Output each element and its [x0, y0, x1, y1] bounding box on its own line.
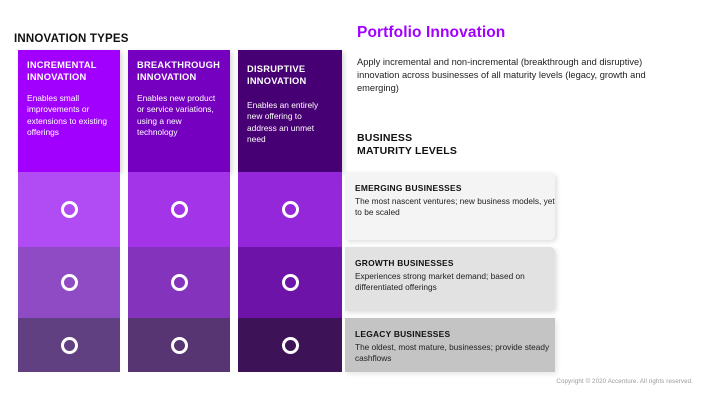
- ring-circle-icon: [61, 337, 78, 354]
- maturity-panel-emerging[interactable]: EMERGING BUSINESSES The most nascent ven…: [345, 172, 555, 240]
- copyright-footer: Copyright © 2020 Accenture. All rights r…: [556, 378, 693, 385]
- business-maturity-levels-label: BUSINESS MATURITY LEVELS: [357, 132, 457, 158]
- maturity-panel-title: LEGACY BUSINESSES: [355, 329, 555, 339]
- matrix-cell-disruptive-legacy[interactable]: [238, 318, 342, 372]
- column-title-incremental: INCREMENTAL INNOVATION: [27, 60, 111, 83]
- matrix-column-disruptive: DISRUPTIVE INNOVATION Enables an entirel…: [238, 50, 342, 372]
- matrix-column-incremental: INCREMENTAL INNOVATION Enables small imp…: [18, 50, 120, 372]
- matrix-cell-breakthrough-legacy[interactable]: [128, 318, 230, 372]
- column-header-incremental: INCREMENTAL INNOVATION Enables small imp…: [18, 50, 120, 172]
- maturity-panel-description: Experiences strong market demand; based …: [355, 271, 555, 293]
- column-desc-disruptive: Enables an entirely new offering to addr…: [247, 100, 333, 145]
- ring-circle-icon: [171, 337, 188, 354]
- ring-circle-icon: [171, 201, 188, 218]
- column-title-line2: INNOVATION: [137, 72, 196, 82]
- matrix-cell-breakthrough-growth[interactable]: [128, 247, 230, 318]
- maturity-panel-title: EMERGING BUSINESSES: [355, 183, 555, 193]
- innovation-types-label: INNOVATION TYPES: [14, 33, 129, 45]
- column-title-line1: BREAKTHROUGH: [137, 60, 220, 70]
- column-desc-breakthrough: Enables new product or service variation…: [137, 93, 221, 138]
- matrix-cell-incremental-growth[interactable]: [18, 247, 120, 318]
- innovation-matrix: INCREMENTAL INNOVATION Enables small imp…: [18, 50, 342, 372]
- maturity-label-line1: BUSINESS: [357, 132, 412, 144]
- column-title-disruptive: DISRUPTIVE INNOVATION: [247, 64, 333, 87]
- column-title-line2: INNOVATION: [27, 72, 86, 82]
- ring-circle-icon: [171, 274, 188, 291]
- column-title-breakthrough: BREAKTHROUGH INNOVATION: [137, 60, 221, 83]
- matrix-cell-incremental-emerging[interactable]: [18, 172, 120, 247]
- matrix-cell-breakthrough-emerging[interactable]: [128, 172, 230, 247]
- page-title: Portfolio Innovation: [357, 24, 505, 42]
- maturity-panel-title: GROWTH BUSINESSES: [355, 258, 555, 268]
- maturity-label-line2: MATURITY LEVELS: [357, 145, 457, 157]
- ring-circle-icon: [282, 337, 299, 354]
- matrix-cell-disruptive-emerging[interactable]: [238, 172, 342, 247]
- ring-circle-icon: [282, 201, 299, 218]
- matrix-cell-disruptive-growth[interactable]: [238, 247, 342, 318]
- column-title-line2: INNOVATION: [247, 76, 306, 86]
- slide-canvas: INNOVATION TYPES INCREMENTAL INNOVATION …: [0, 0, 720, 405]
- column-desc-incremental: Enables small improvements or extensions…: [27, 93, 111, 138]
- column-title-line1: INCREMENTAL: [27, 60, 97, 70]
- maturity-panel-growth[interactable]: GROWTH BUSINESSES Experiences strong mar…: [345, 247, 555, 311]
- maturity-panel-description: The most nascent ventures; new business …: [355, 196, 555, 218]
- ring-circle-icon: [282, 274, 299, 291]
- matrix-cell-incremental-legacy[interactable]: [18, 318, 120, 372]
- column-title-line1: DISRUPTIVE: [247, 64, 305, 74]
- maturity-panel-description: The oldest, most mature, businesses; pro…: [355, 342, 555, 364]
- ring-circle-icon: [61, 201, 78, 218]
- column-header-disruptive: DISRUPTIVE INNOVATION Enables an entirel…: [238, 50, 342, 172]
- column-header-breakthrough: BREAKTHROUGH INNOVATION Enables new prod…: [128, 50, 230, 172]
- maturity-panel-legacy[interactable]: LEGACY BUSINESSES The oldest, most matur…: [345, 318, 555, 372]
- matrix-column-breakthrough: BREAKTHROUGH INNOVATION Enables new prod…: [128, 50, 230, 372]
- ring-circle-icon: [61, 274, 78, 291]
- page-description: Apply incremental and non-incremental (b…: [357, 56, 677, 96]
